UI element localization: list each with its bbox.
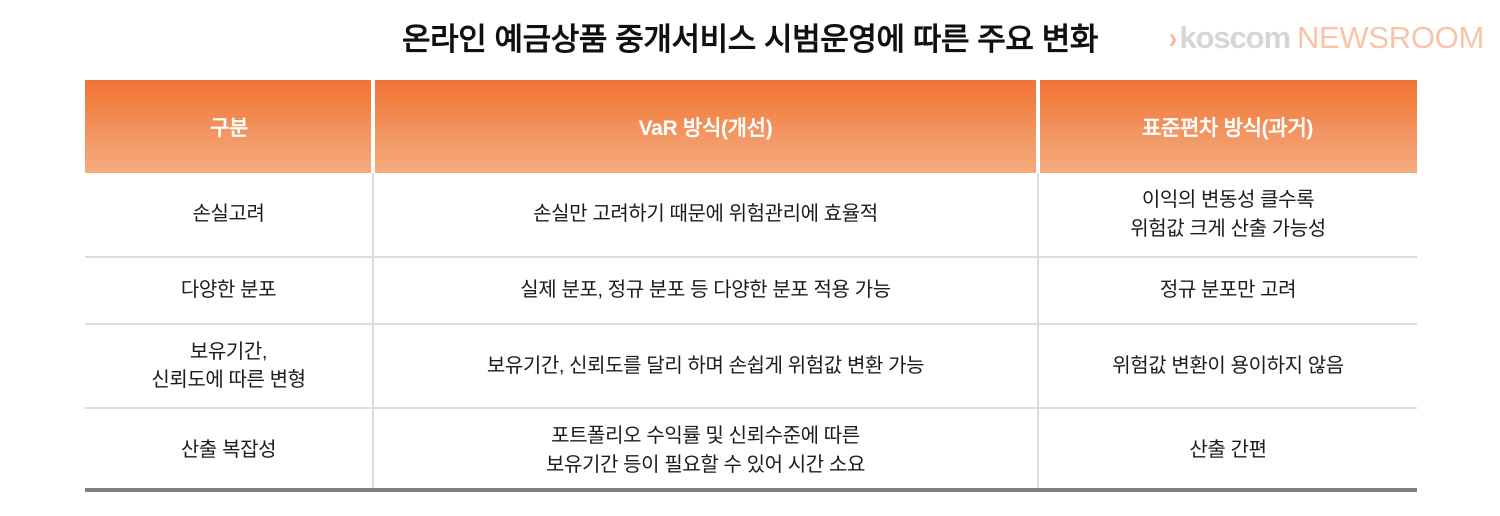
cell-text-line: 손실만 고려하기 때문에 위험관리에 효율적 <box>384 200 1027 228</box>
cell-text-line: 위험값 변환이 용이하지 않음 <box>1049 352 1407 380</box>
cell-text-line: 실제 분포, 정규 분포 등 다양한 분포 적용 가능 <box>384 276 1027 304</box>
cell-var-method: 손실만 고려하기 때문에 위험관리에 효율적 <box>373 173 1038 257</box>
table-row: 산출 복잡성 포트폴리오 수익률 및 신뢰수준에 따른 보유기간 등이 필요할 … <box>85 408 1417 492</box>
cell-text-line: 다양한 분포 <box>95 276 362 304</box>
column-header-stddev-method: 표준편차 방식(과거) <box>1038 80 1417 173</box>
cell-text-line: 정규 분포만 고려 <box>1049 276 1407 304</box>
cell-var-method: 실제 분포, 정규 분포 등 다양한 분포 적용 가능 <box>373 257 1038 324</box>
infographic-page: 온라인 예금상품 중개서비스 시범운영에 따른 주요 변화 › koscom N… <box>0 0 1500 516</box>
column-header-var-method: VaR 방식(개선) <box>373 80 1038 173</box>
chevron-right-icon: › <box>1169 24 1178 54</box>
column-header-category: 구분 <box>85 80 373 173</box>
cell-text-line: 산출 간편 <box>1049 436 1407 464</box>
cell-category: 산출 복잡성 <box>85 408 373 492</box>
logo-suffix-text: NEWSROOM <box>1297 22 1484 53</box>
cell-text-line: 이익의 변동성 클수록 <box>1049 186 1407 214</box>
table-header-row: 구분 VaR 방식(개선) 표준편차 방식(과거) <box>85 80 1417 173</box>
cell-text-line: 보유기간 등이 필요할 수 있어 시간 소요 <box>384 451 1027 479</box>
comparison-table-wrapper: 구분 VaR 방식(개선) 표준편차 방식(과거) 손실고려 손실만 고려하기 … <box>85 80 1417 492</box>
koscom-newsroom-logo: › koscom NEWSROOM <box>1168 22 1484 54</box>
cell-text-line: 손실고려 <box>95 200 362 228</box>
cell-stddev-method: 산출 간편 <box>1038 408 1417 492</box>
page-header: 온라인 예금상품 중개서비스 시범운영에 따른 주요 변화 › koscom N… <box>0 0 1500 72</box>
cell-stddev-method: 위험값 변환이 용이하지 않음 <box>1038 324 1417 408</box>
cell-category: 다양한 분포 <box>85 257 373 324</box>
cell-var-method: 보유기간, 신뢰도를 달리 하며 손쉽게 위험값 변환 가능 <box>373 324 1038 408</box>
cell-text-line: 포트폴리오 수익률 및 신뢰수준에 따른 <box>384 422 1027 450</box>
cell-text-line: 신뢰도에 따른 변형 <box>95 366 362 394</box>
table-bottom-rule <box>85 488 1417 492</box>
cell-text-line: 보유기간, <box>95 338 362 366</box>
comparison-table: 구분 VaR 방식(개선) 표준편차 방식(과거) 손실고려 손실만 고려하기 … <box>85 80 1417 492</box>
cell-var-method: 포트폴리오 수익률 및 신뢰수준에 따른 보유기간 등이 필요할 수 있어 시간… <box>373 408 1038 492</box>
table-head: 구분 VaR 방식(개선) 표준편차 방식(과거) <box>85 80 1417 173</box>
cell-stddev-method: 정규 분포만 고려 <box>1038 257 1417 324</box>
cell-text-line: 산출 복잡성 <box>95 436 362 464</box>
cell-text-line: 보유기간, 신뢰도를 달리 하며 손쉽게 위험값 변환 가능 <box>384 352 1027 380</box>
cell-category: 손실고려 <box>85 173 373 257</box>
table-row: 다양한 분포 실제 분포, 정규 분포 등 다양한 분포 적용 가능 정규 분포… <box>85 257 1417 324</box>
table-body: 손실고려 손실만 고려하기 때문에 위험관리에 효율적 이익의 변동성 클수록 … <box>85 173 1417 492</box>
cell-text-line: 위험값 크게 산출 가능성 <box>1049 215 1407 243</box>
cell-category: 보유기간, 신뢰도에 따른 변형 <box>85 324 373 408</box>
table-row: 손실고려 손실만 고려하기 때문에 위험관리에 효율적 이익의 변동성 클수록 … <box>85 173 1417 257</box>
cell-stddev-method: 이익의 변동성 클수록 위험값 크게 산출 가능성 <box>1038 173 1417 257</box>
table-row: 보유기간, 신뢰도에 따른 변형 보유기간, 신뢰도를 달리 하며 손쉽게 위험… <box>85 324 1417 408</box>
logo-brand-text: koscom <box>1179 22 1290 53</box>
